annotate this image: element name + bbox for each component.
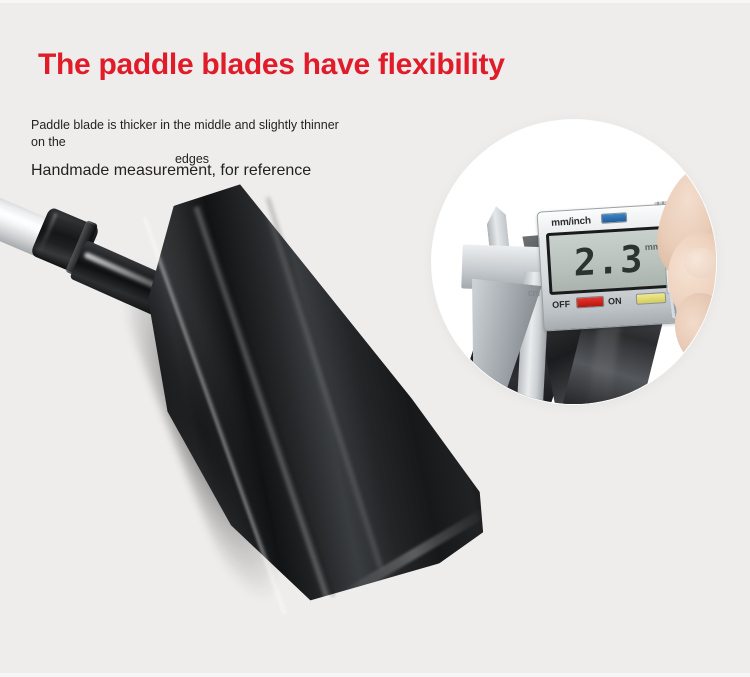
zero-button[interactable] — [636, 292, 667, 305]
on-button-label: ON — [608, 296, 622, 307]
mm-inch-button[interactable] — [601, 212, 628, 224]
subtitle-line-1: Paddle blade is thicker in the middle an… — [31, 117, 353, 151]
off-button-label: OFF — [552, 299, 571, 310]
product-detail-page: The paddle blades have flexibility Paddl… — [0, 0, 750, 677]
page-title: The paddle blades have flexibility — [38, 48, 505, 82]
caliper-scale-label: cm — [528, 288, 541, 299]
top-edge-line — [0, 0, 750, 3]
power-switch[interactable] — [576, 296, 605, 309]
caliper-lcd-screen: 2.3 mm — [546, 226, 672, 295]
bottom-edge-line — [0, 673, 750, 677]
caliper-measurement-inset: cm mm/inch 2.3 mm OFF ON ZERO — [432, 120, 716, 404]
